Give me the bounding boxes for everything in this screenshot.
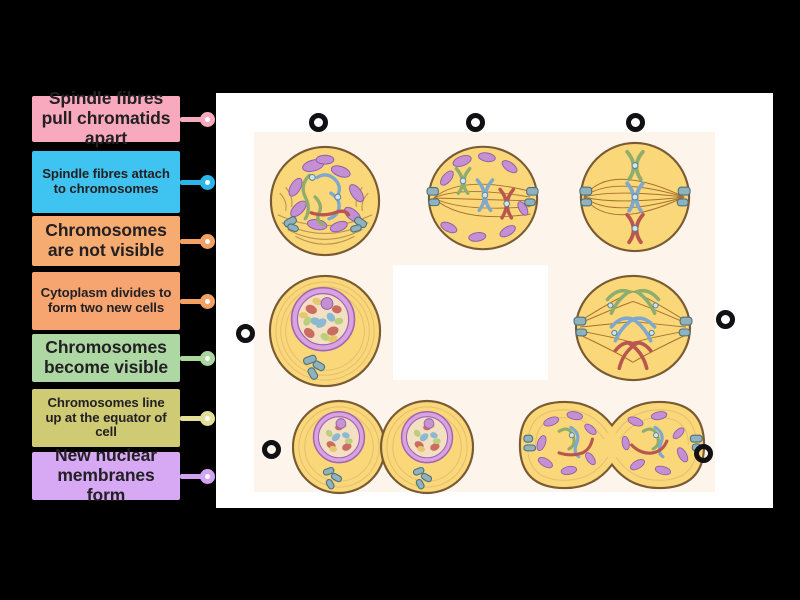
label-item-metaphase-equator[interactable]: Chromosomes line up at the equator of ce… bbox=[32, 389, 180, 447]
cell-diagram-metaphase-aligned bbox=[576, 138, 694, 256]
cell-diagram-metaphase-early bbox=[424, 142, 542, 254]
label-connector-knob[interactable] bbox=[200, 351, 215, 366]
label-item-anaphase[interactable]: Spindle fibres pull chromatids apart bbox=[32, 96, 180, 142]
drop-target-metaphase-equator[interactable] bbox=[626, 113, 645, 132]
label-box[interactable]: New nuclear membranes form bbox=[32, 452, 180, 500]
label-box[interactable]: Chromosomes line up at the equator of ce… bbox=[32, 389, 180, 447]
cell-diagram-interphase bbox=[264, 272, 386, 390]
label-connector-knob[interactable] bbox=[200, 469, 215, 484]
cell-diagram-anaphase bbox=[572, 272, 694, 384]
label-box[interactable]: Spindle fibres attach to chromosomes bbox=[32, 151, 180, 213]
label-connector-knob[interactable] bbox=[200, 411, 215, 426]
drop-target-interphase[interactable] bbox=[236, 324, 255, 343]
label-item-cytokinesis[interactable]: Cytoplasm divides to form two new cells bbox=[32, 272, 180, 330]
label-box[interactable]: Spindle fibres pull chromatids apart bbox=[32, 96, 180, 142]
drop-target-prophase[interactable] bbox=[309, 113, 328, 132]
label-connector-knob[interactable] bbox=[200, 175, 215, 190]
label-connector-knob[interactable] bbox=[200, 294, 215, 309]
cell-diagram-cytokinesis bbox=[292, 398, 474, 496]
label-item-telophase[interactable]: New nuclear membranes form bbox=[32, 452, 180, 500]
label-box[interactable]: Chromosomes are not visible bbox=[32, 216, 180, 266]
label-box[interactable]: Cytoplasm divides to form two new cells bbox=[32, 272, 180, 330]
label-box[interactable]: Chromosomes become visible bbox=[32, 334, 180, 382]
drop-target-cytokinesis[interactable] bbox=[262, 440, 281, 459]
drop-target-telophase[interactable] bbox=[694, 444, 713, 463]
drop-target-metaphase-attach[interactable] bbox=[466, 113, 485, 132]
draggable-label-list: Spindle fibres pull chromatids apart Spi… bbox=[32, 0, 220, 600]
label-item-prophase[interactable]: Chromosomes become visible bbox=[32, 334, 180, 382]
label-item-metaphase-attach[interactable]: Spindle fibres attach to chromosomes bbox=[32, 151, 180, 213]
diagram-empty-slot bbox=[393, 265, 548, 380]
drop-target-anaphase[interactable] bbox=[716, 310, 735, 329]
label-connector-knob[interactable] bbox=[200, 112, 215, 127]
cell-diagram-telophase bbox=[516, 396, 708, 494]
label-connector-knob[interactable] bbox=[200, 234, 215, 249]
activity-root: Spindle fibres pull chromatids apart Spi… bbox=[0, 0, 800, 600]
label-item-interphase[interactable]: Chromosomes are not visible bbox=[32, 216, 180, 266]
cell-diagram-prophase bbox=[266, 142, 384, 260]
